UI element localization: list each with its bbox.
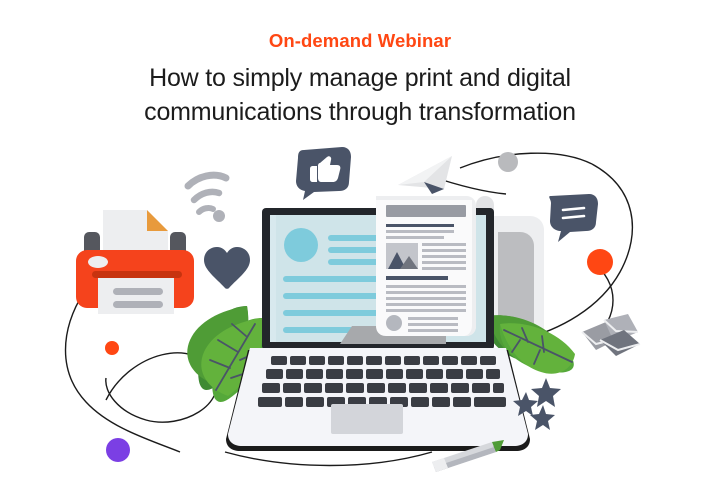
document-image-placeholder [386,243,418,269]
printer-icon [76,210,194,314]
orange-dot-small [105,341,119,355]
wifi-icon [188,175,226,222]
thumbs-up-bubble-icon [296,147,351,200]
gray-node-dot [498,152,518,172]
chat-bubble-icon [549,194,598,242]
purple-dot [106,438,130,462]
paper-plane-icon [398,156,452,194]
laptop-keyboard-bottom-row [265,411,287,420]
laptop-trackpad [331,404,403,434]
webinar-promo-card: On-demand Webinar How to simply manage p… [0,0,720,480]
document-overlay [376,196,476,336]
illustration [0,0,720,480]
heart-icon [204,247,250,289]
envelopes-icon [582,314,640,356]
orange-circle-large [587,249,613,275]
